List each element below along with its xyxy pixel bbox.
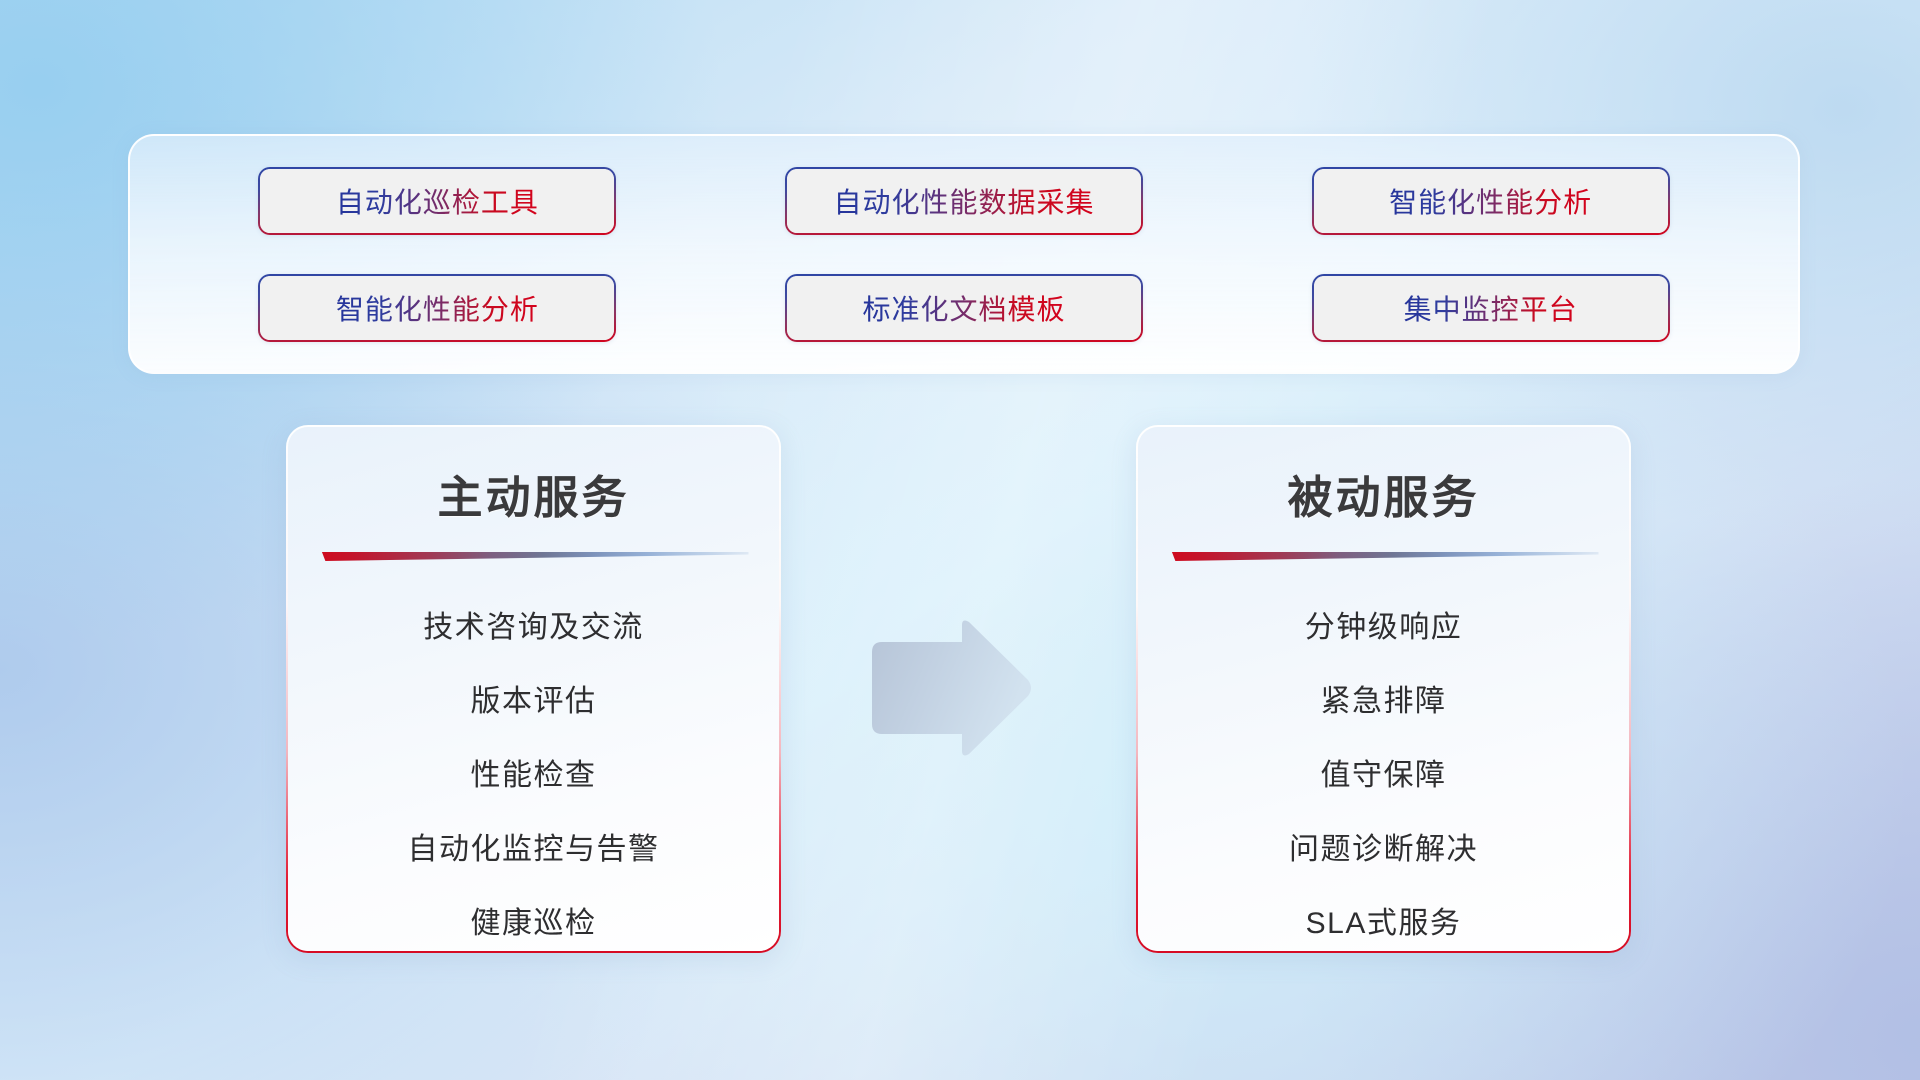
pill-inner: 标准化文档模板	[787, 276, 1141, 340]
card-inner: 主动服务 技术咨询及交流 版本评估 性能检查 自动化监控与告警 健康巡检	[288, 427, 779, 951]
pill-inner: 智能化性能分析	[260, 276, 614, 340]
service-card-passive: 被动服务 分钟级响应 紧急排障 值守保障 问题诊断解决 SLA式服务	[1136, 425, 1631, 953]
pill-label: 智能化性能分析	[336, 288, 539, 328]
pill-intelligent-perf-analysis[interactable]: 智能化性能分析	[1312, 167, 1670, 235]
divider-bar	[319, 552, 749, 561]
card-inner: 被动服务 分钟级响应 紧急排障 值守保障 问题诊断解决 SLA式服务	[1138, 427, 1629, 951]
service-item-list-passive: 分钟级响应 紧急排障 值守保障 问题诊断解决 SLA式服务	[1138, 561, 1629, 951]
list-item: 问题诊断解决	[1138, 813, 1629, 887]
card-divider-passive	[1169, 552, 1599, 561]
list-item: 自动化监控与告警	[288, 813, 779, 887]
pill-inner: 集中监控平台	[1314, 276, 1668, 340]
card-title-active: 主动服务	[288, 427, 779, 526]
pill-label: 自动化性能数据采集	[833, 181, 1094, 221]
pill-label: 标准化文档模板	[862, 288, 1065, 328]
list-item: 紧急排障	[1138, 665, 1629, 739]
list-item: 健康巡检	[288, 887, 779, 951]
list-item: SLA式服务	[1138, 887, 1629, 951]
list-item: 性能检查	[288, 739, 779, 813]
card-divider-active	[319, 552, 749, 561]
list-item: 技术咨询及交流	[288, 591, 779, 665]
flow-arrow-right-icon	[866, 618, 1034, 758]
pill-standard-doc-template[interactable]: 标准化文档模板	[785, 274, 1143, 342]
service-item-list-active: 技术咨询及交流 版本评估 性能检查 自动化监控与告警 健康巡检	[288, 561, 779, 951]
pill-inner: 自动化性能数据采集	[787, 169, 1141, 233]
pill-auto-inspection-tool[interactable]: 自动化巡检工具	[258, 167, 616, 235]
divider-bar	[1169, 552, 1599, 561]
list-item: 值守保障	[1138, 739, 1629, 813]
pill-label: 智能化性能分析	[1389, 181, 1592, 221]
pill-inner: 自动化巡检工具	[260, 169, 614, 233]
pill-inner: 智能化性能分析	[1314, 169, 1668, 233]
list-item: 版本评估	[288, 665, 779, 739]
service-card-active: 主动服务 技术咨询及交流 版本评估 性能检查 自动化监控与告警 健康巡检	[286, 425, 781, 953]
pill-intelligent-perf-analysis-2[interactable]: 智能化性能分析	[258, 274, 616, 342]
list-item: 分钟级响应	[1138, 591, 1629, 665]
pill-auto-perf-data-collection[interactable]: 自动化性能数据采集	[785, 167, 1143, 235]
capability-pill-grid: 自动化巡检工具 自动化性能数据采集 智能化性能分析 智能化性能分析 标准化文档模…	[130, 136, 1798, 372]
pill-label: 自动化巡检工具	[336, 181, 539, 221]
capability-panel: 自动化巡检工具 自动化性能数据采集 智能化性能分析 智能化性能分析 标准化文档模…	[128, 134, 1800, 374]
card-title-passive: 被动服务	[1138, 427, 1629, 526]
pill-central-monitoring[interactable]: 集中监控平台	[1312, 274, 1670, 342]
pill-label: 集中监控平台	[1404, 288, 1578, 328]
